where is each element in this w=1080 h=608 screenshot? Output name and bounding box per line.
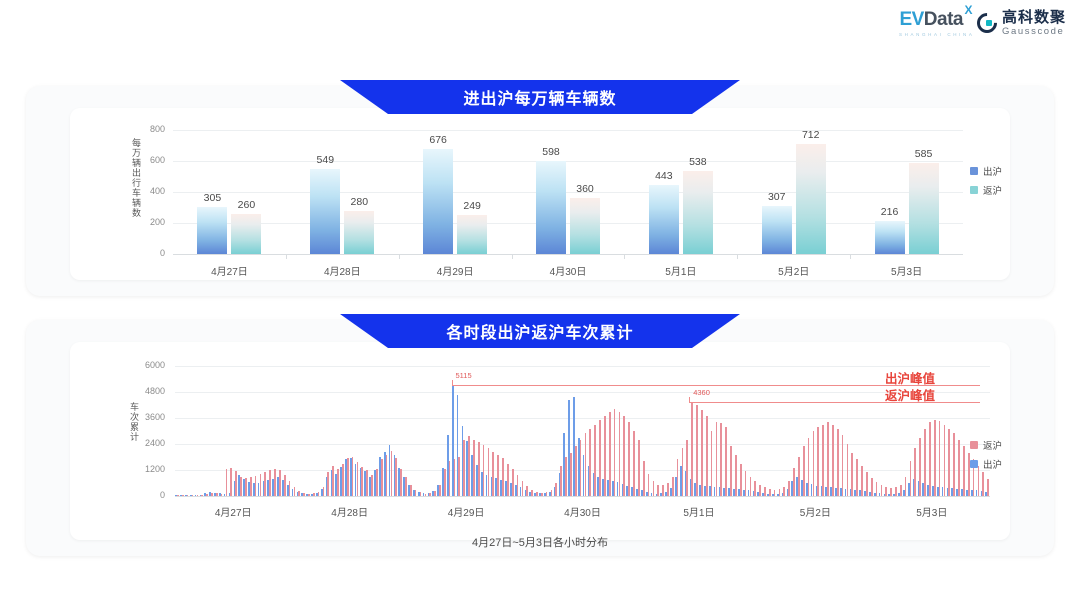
hour-bar-fanhu <box>619 412 621 497</box>
bar-chuhu <box>762 206 792 254</box>
hour-bar-fanhu <box>924 429 926 496</box>
peak-tick-fanhu <box>689 397 690 402</box>
x-axis-separator <box>286 254 287 259</box>
hour-bar-fanhu <box>298 491 300 496</box>
hour-bar-fanhu <box>885 487 887 496</box>
bar-fanhu <box>231 214 261 254</box>
hour-bar-fanhu <box>847 444 849 496</box>
hour-bar-fanhu <box>415 490 417 496</box>
hour-bar-fanhu <box>323 487 325 496</box>
hour-bar-fanhu <box>250 477 252 496</box>
hour-bar-fanhu <box>813 431 815 496</box>
y-axis-tick: 600 <box>131 155 165 165</box>
hour-bar-fanhu <box>206 494 208 496</box>
hour-bar-fanhu <box>221 494 223 496</box>
hour-bar-fanhu <box>594 425 596 497</box>
y-axis-tick: 6000 <box>131 360 165 370</box>
hour-bar-fanhu <box>900 485 902 496</box>
legend-hourly: 返沪出沪 <box>970 438 1002 476</box>
hour-bar-fanhu <box>235 471 237 496</box>
hour-bar-fanhu <box>522 481 524 496</box>
hour-bar-fanhu <box>779 489 781 496</box>
hour-bar-fanhu <box>735 455 737 496</box>
hour-bar-fanhu <box>832 425 834 497</box>
hour-bar-fanhu <box>919 438 921 497</box>
hour-bar-fanhu <box>808 438 810 497</box>
hour-bar-fanhu <box>934 420 936 496</box>
hour-bar-fanhu <box>716 422 718 496</box>
gridline <box>175 444 990 445</box>
legend-item-fanhu[interactable]: 返沪 <box>970 438 1002 452</box>
hour-bar-fanhu <box>648 474 650 496</box>
bar-fanhu <box>457 215 487 254</box>
legend-label: 出沪 <box>983 457 1002 471</box>
gausscode-logo-en: Gausscode <box>1002 27 1066 37</box>
hour-bar-fanhu <box>929 422 931 496</box>
hour-bar-fanhu <box>488 448 490 496</box>
peak-label-fanhu: 返沪峰值 <box>885 385 935 404</box>
chart-card-daily: 每万辆出行车辆数02004006008003052604月27日5492804月… <box>26 86 1054 296</box>
hour-bar-fanhu <box>391 451 393 497</box>
hour-bar-fanhu <box>327 472 329 496</box>
hour-bar-fanhu <box>764 487 766 496</box>
x-axis-tick: 4月28日 <box>310 504 390 519</box>
y-axis-tick: 4800 <box>131 386 165 396</box>
y-axis-tick: 400 <box>131 186 165 196</box>
hour-bar-fanhu <box>842 435 844 496</box>
hour-bar-fanhu <box>580 440 582 496</box>
hour-bar-fanhu <box>565 457 567 496</box>
hour-bar-fanhu <box>740 464 742 497</box>
hour-bar-fanhu <box>822 425 824 497</box>
hour-bar-fanhu <box>589 429 591 496</box>
hour-bar-fanhu <box>963 446 965 496</box>
hour-bar-fanhu <box>614 409 616 496</box>
bar-value-label: 585 <box>902 148 946 160</box>
gridline <box>175 496 990 497</box>
hour-bar-fanhu <box>264 472 266 496</box>
x-axis-tick: 4月29日 <box>426 504 506 519</box>
hour-bar-fanhu <box>939 421 941 496</box>
hour-bar-fanhu <box>449 461 451 496</box>
hour-bar-fanhu <box>774 490 776 496</box>
hour-bar-fanhu <box>555 483 557 496</box>
hour-bar-fanhu <box>303 493 305 496</box>
legend-daily: 出沪返沪 <box>970 164 1002 202</box>
hour-bar-fanhu <box>284 475 286 496</box>
hour-bar-fanhu <box>201 495 203 496</box>
chart-footnote-hourly: 4月27日~5月3日各小时分布 <box>70 534 1010 550</box>
hour-bar-fanhu <box>657 485 659 496</box>
hour-bar-fanhu <box>987 479 989 496</box>
hour-bar-fanhu <box>720 423 722 496</box>
bar-chuhu <box>423 149 453 254</box>
hour-bar-fanhu <box>395 458 397 496</box>
x-axis-separator <box>399 254 400 259</box>
hour-bar-fanhu <box>682 448 684 496</box>
x-axis-tick: 5月2日 <box>775 504 855 519</box>
hour-bar-fanhu <box>531 490 533 497</box>
hour-bar-fanhu <box>696 405 698 496</box>
hour-bar-fanhu <box>638 440 640 496</box>
hour-bar-fanhu <box>274 469 276 496</box>
hour-bar-fanhu <box>677 459 679 496</box>
hour-bar-fanhu <box>439 485 441 496</box>
x-axis-separator <box>737 254 738 259</box>
hour-bar-fanhu <box>492 452 494 496</box>
bar-value-label: 249 <box>450 200 494 212</box>
hour-bar-fanhu <box>444 469 446 496</box>
hour-bar-fanhu <box>405 477 407 496</box>
hour-bar-fanhu <box>473 440 475 496</box>
y-axis-tick: 3600 <box>131 412 165 422</box>
y-axis-tick: 0 <box>131 490 165 500</box>
hour-bar-fanhu <box>197 495 199 496</box>
hour-bar-fanhu <box>769 489 771 496</box>
hour-bar-fanhu <box>803 446 805 496</box>
hour-bar-fanhu <box>541 493 543 496</box>
hour-bar-fanhu <box>260 474 262 496</box>
legend-swatch-icon <box>970 167 978 175</box>
hour-bar-fanhu <box>856 459 858 496</box>
hour-bar-fanhu <box>357 462 359 496</box>
bar-value-label: 280 <box>337 196 381 208</box>
evdata-logo-ev: EV <box>899 9 923 30</box>
hour-bar-fanhu <box>628 422 630 496</box>
bar-value-label: 216 <box>868 206 912 218</box>
gridline <box>175 392 990 393</box>
hour-bar-fanhu <box>793 468 795 496</box>
hour-bar-fanhu <box>216 493 218 496</box>
bar-fanhu <box>683 171 713 254</box>
hour-bar-fanhu <box>759 485 761 496</box>
hour-bar-fanhu <box>289 481 291 496</box>
hour-bar-fanhu <box>429 493 431 496</box>
y-axis-tick: 0 <box>131 248 165 258</box>
chart-panel-hourly: 车次累计0120024003600480060004月27日4月28日4月29日… <box>70 342 1010 540</box>
chart-title-hourly: 各时段出沪返沪车次累计 <box>340 314 740 348</box>
hour-bar-fanhu <box>910 461 912 496</box>
hour-bar-fanhu <box>420 492 422 496</box>
hour-bar-fanhu <box>230 468 232 496</box>
hour-bar-fanhu <box>497 455 499 496</box>
bar-fanhu <box>796 144 826 254</box>
x-axis-tick: 4月30日 <box>528 263 608 278</box>
hour-bar-fanhu <box>468 436 470 496</box>
bar-chart-hourly: 车次累计0120024003600480060004月27日4月28日4月29日… <box>70 342 1010 542</box>
hour-bar-fanhu <box>512 469 514 496</box>
legend-item-chuhu[interactable]: 出沪 <box>970 457 1002 471</box>
legend-label: 返沪 <box>983 183 1002 197</box>
gausscode-logo-cn: 高科数聚 <box>1002 10 1066 25</box>
hour-bar-fanhu <box>948 429 950 496</box>
hour-bar-fanhu <box>371 475 373 496</box>
x-axis-tick: 4月29日 <box>415 263 495 278</box>
x-axis-tick: 4月27日 <box>193 504 273 519</box>
hour-bar-fanhu <box>551 490 553 496</box>
hour-bar-fanhu <box>672 477 674 497</box>
y-axis-tick: 2400 <box>131 438 165 448</box>
hour-bar-fanhu <box>294 487 296 496</box>
hour-bar-fanhu <box>255 476 257 496</box>
hour-bar-fanhu <box>240 477 242 497</box>
bar-fanhu <box>909 163 939 254</box>
hour-bar-fanhu <box>750 477 752 497</box>
legend-item-chuhu[interactable]: 出沪 <box>970 164 1002 178</box>
hour-bar-fanhu <box>754 481 756 496</box>
hour-bar-fanhu <box>536 492 538 496</box>
peak-tick-chuhu <box>452 380 453 385</box>
gridline <box>173 223 963 224</box>
hour-bar-fanhu <box>691 402 693 496</box>
hour-bar-fanhu <box>560 466 562 496</box>
bar-value-label: 549 <box>303 154 347 166</box>
hour-bar-fanhu <box>570 453 572 496</box>
bar-chuhu <box>649 185 679 254</box>
hour-bar-fanhu <box>851 453 853 496</box>
hour-bar-fanhu <box>483 445 485 496</box>
x-axis-tick: 4月30日 <box>543 504 623 519</box>
hour-bar-fanhu <box>725 427 727 496</box>
bar-value-label: 598 <box>529 146 573 158</box>
peak-line-fanhu <box>689 402 980 403</box>
hour-bar-fanhu <box>400 469 402 496</box>
evdata-logo-sub: SHANGHAI CHINA <box>899 32 974 37</box>
hour-bar-fanhu <box>187 495 189 496</box>
hour-bar-fanhu <box>454 459 456 496</box>
hour-bar-fanhu <box>783 487 785 496</box>
hour-bar-fanhu <box>585 433 587 496</box>
x-axis-tick: 5月3日 <box>892 504 972 519</box>
hour-bar-fanhu <box>182 495 184 496</box>
hour-bar-fanhu <box>352 457 354 496</box>
hour-bar-fanhu <box>653 481 655 496</box>
hour-bar-fanhu <box>279 470 281 496</box>
hour-bar-fanhu <box>667 483 669 496</box>
evdata-logo-superscript: X <box>964 4 972 16</box>
hour-bar-fanhu <box>318 492 320 496</box>
hour-bar-fanhu <box>662 485 664 496</box>
bar-fanhu <box>570 198 600 254</box>
hour-bar-fanhu <box>245 478 247 496</box>
hour-bar-fanhu <box>575 446 577 496</box>
hour-bar-fanhu <box>958 440 960 496</box>
hour-bar-fanhu <box>944 425 946 497</box>
hour-bar-fanhu <box>837 429 839 496</box>
hour-bar-fanhu <box>376 469 378 496</box>
bar-chart-daily: 每万辆出行车辆数02004006008003052604月27日5492804月… <box>70 108 1010 280</box>
hour-bar-fanhu <box>434 491 436 496</box>
hour-bar-fanhu <box>730 446 732 496</box>
bar-value-label: 443 <box>642 170 686 182</box>
x-axis-separator <box>512 254 513 259</box>
legend-item-fanhu[interactable]: 返沪 <box>970 183 1002 197</box>
hour-bar-fanhu <box>502 458 504 496</box>
bar-value-label: 260 <box>224 199 268 211</box>
hour-bar-fanhu <box>211 493 213 496</box>
hour-bar-fanhu <box>706 416 708 496</box>
hour-bar-fanhu <box>507 464 509 497</box>
bar-value-label: 712 <box>789 129 833 141</box>
hour-bar-fanhu <box>313 493 315 496</box>
hour-bar-fanhu <box>604 416 606 496</box>
evdata-logo-data: Data <box>924 9 963 30</box>
x-axis-tick: 5月3日 <box>867 263 947 278</box>
hour-bar-fanhu <box>458 457 460 496</box>
gridline <box>173 161 963 162</box>
hour-bar-fanhu <box>308 494 310 496</box>
hour-bar-fanhu <box>361 467 363 496</box>
x-axis-tick: 4月28日 <box>302 263 382 278</box>
legend-swatch-icon <box>970 186 978 194</box>
hour-bar-fanhu <box>332 466 334 496</box>
hour-bar-fanhu <box>817 427 819 496</box>
hour-bar-fanhu <box>711 431 713 496</box>
x-axis-tick: 5月1日 <box>641 263 721 278</box>
hour-bar-fanhu <box>871 478 873 496</box>
gridline <box>173 130 963 131</box>
legend-label: 出沪 <box>983 164 1002 178</box>
legend-label: 返沪 <box>983 438 1002 452</box>
bar-value-label: 538 <box>676 156 720 168</box>
hour-bar-fanhu <box>517 475 519 496</box>
hour-bar-fanhu <box>342 464 344 497</box>
x-axis-tick: 5月2日 <box>754 263 834 278</box>
gausscode-mark-icon <box>977 13 997 33</box>
hour-bar-fanhu <box>366 470 368 496</box>
gridline <box>175 366 990 367</box>
hour-bar-fanhu <box>861 466 863 496</box>
hour-bar-fanhu <box>599 420 601 496</box>
page-root: EVDataX SHANGHAI CHINA 高科数聚 Gausscode 每万… <box>0 0 1080 608</box>
peak-value-chuhu: 5115 <box>456 371 472 380</box>
gridline <box>175 418 990 419</box>
hour-bar-fanhu <box>546 492 548 496</box>
bar-value-label: 307 <box>755 191 799 203</box>
evdata-logo-text: EVDataX <box>899 10 963 29</box>
bar-value-label: 360 <box>563 183 607 195</box>
hour-bar-fanhu <box>827 422 829 496</box>
y-axis-label: 车次累计 <box>128 402 141 442</box>
hour-bar-fanhu <box>953 433 955 496</box>
hour-bar-fanhu <box>269 470 271 496</box>
hour-bar-fanhu <box>686 440 688 496</box>
hour-bar-fanhu <box>643 461 645 496</box>
hour-bar-fanhu <box>410 485 412 496</box>
hour-bar-fanhu <box>881 485 883 496</box>
hour-bar-fanhu <box>701 410 703 496</box>
hour-bar-fanhu <box>745 471 747 496</box>
hour-bar-fanhu <box>226 469 228 496</box>
evdata-logo: EVDataX SHANGHAI CHINA <box>899 10 963 36</box>
y-axis-tick: 200 <box>131 217 165 227</box>
hour-bar-fanhu <box>478 442 480 496</box>
bar-chuhu <box>536 161 566 254</box>
bar-chuhu <box>875 221 905 254</box>
bar-value-label: 676 <box>416 134 460 146</box>
chart-card-hourly: 车次累计0120024003600480060004月27日4月28日4月29日… <box>26 320 1054 556</box>
peak-value-fanhu: 4360 <box>693 388 710 397</box>
chart-title-daily: 进出沪每万辆车辆数 <box>340 80 740 114</box>
hour-bar-fanhu <box>895 487 897 496</box>
x-axis-tick: 5月1日 <box>659 504 739 519</box>
hour-bar-fanhu <box>337 469 339 496</box>
bar-chuhu <box>310 169 340 254</box>
hour-bar-fanhu <box>914 448 916 496</box>
hour-bar-fanhu <box>890 488 892 496</box>
header-logos: EVDataX SHANGHAI CHINA 高科数聚 Gausscode <box>899 10 1066 37</box>
hour-bar-fanhu <box>425 494 427 496</box>
hour-bar-fanhu <box>866 472 868 496</box>
hour-bar-fanhu <box>623 416 625 496</box>
hour-bar-fanhu <box>381 459 383 496</box>
bar-chuhu <box>197 207 227 254</box>
bar-fanhu <box>344 211 374 254</box>
hour-bar-fanhu <box>633 431 635 496</box>
hour-bar-fanhu <box>386 455 388 496</box>
gridline <box>173 254 963 255</box>
hour-bar-fanhu <box>177 495 179 496</box>
gausscode-logo: 高科数聚 Gausscode <box>977 10 1066 37</box>
chart-panel-daily: 每万辆出行车辆数02004006008003052604月27日5492804月… <box>70 108 1010 280</box>
y-axis-tick: 800 <box>131 124 165 134</box>
legend-swatch-icon <box>970 441 978 449</box>
x-axis-separator <box>624 254 625 259</box>
hour-bar-fanhu <box>905 477 907 497</box>
hour-bar-fanhu <box>876 482 878 496</box>
hour-bar-fanhu <box>788 481 790 496</box>
hour-bar-fanhu <box>609 412 611 497</box>
x-axis-separator <box>850 254 851 259</box>
x-axis-tick: 4月27日 <box>189 263 269 278</box>
hour-bar-fanhu <box>192 495 194 496</box>
y-axis-tick: 1200 <box>131 464 165 474</box>
legend-swatch-icon <box>970 460 978 468</box>
hour-bar-fanhu <box>526 486 528 496</box>
hour-bar-fanhu <box>347 458 349 496</box>
hour-bar-fanhu <box>798 457 800 496</box>
hour-bar-fanhu <box>463 440 465 496</box>
